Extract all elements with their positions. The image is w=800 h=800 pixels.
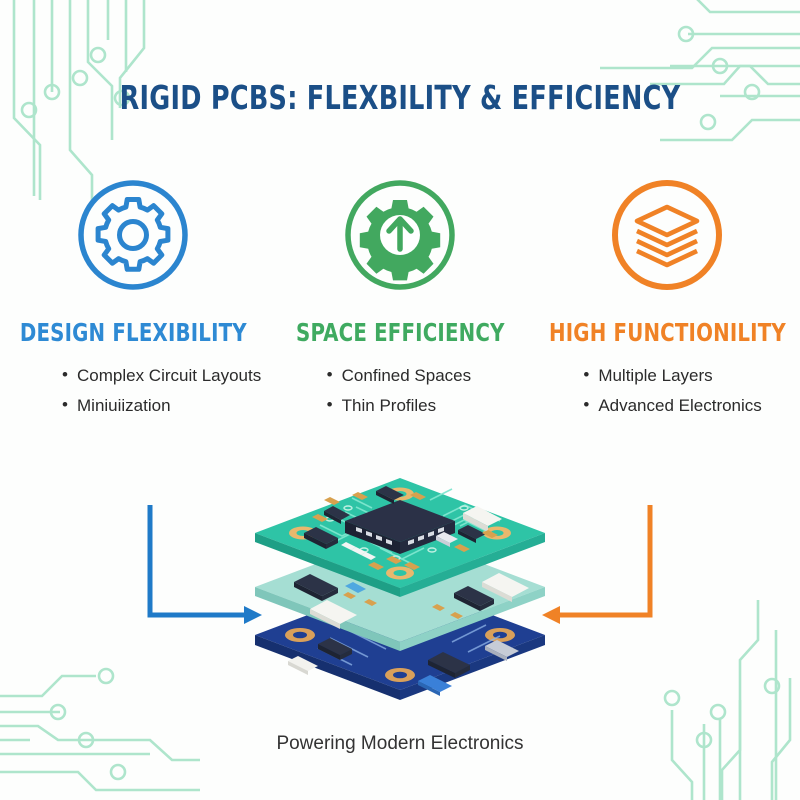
feature-bullet-list: Multiple Layers Advanced Electronics [533,361,800,422]
list-item: Multiple Layers [581,361,800,391]
illustration-caption: Powering Modern Electronics [0,733,800,755]
list-item: Thin Profiles [325,391,534,421]
feature-bullet-list: Confined Spaces Thin Profiles [267,361,534,422]
feature-column-space-efficiency: SPACE EFFICIENCY Confined Spaces Thin Pr… [267,170,534,422]
infographic-page: RIGID PCBS: FLEXBILITY & EFFICIENCY DESI… [0,0,800,800]
column-heading: HIGH FUNCTIONILITY [549,318,784,347]
page-title: RIGID PCBS: FLEXBILITY & EFFICIENCY [56,78,744,117]
list-item: Miniuiization [60,391,267,421]
feature-bullet-list: Complex Circuit Layouts Miniuiization [0,361,267,422]
orange-elbow-arrow-left [542,505,650,624]
layers-stack-icon [602,170,732,300]
stacked-pcb-illustration [0,470,800,720]
blue-elbow-arrow-right [150,505,262,624]
column-heading: DESIGN FLEXIBILITY [16,318,251,347]
list-item: Confined Spaces [325,361,534,391]
list-item: Advanced Electronics [581,391,800,421]
feature-columns: DESIGN FLEXIBILITY Complex Circuit Layou… [0,170,800,422]
list-item: Complex Circuit Layouts [60,361,267,391]
gear-up-arrow-icon [335,170,465,300]
feature-column-high-functionility: HIGH FUNCTIONILITY Multiple Layers Advan… [533,170,800,422]
column-heading: SPACE EFFICIENCY [283,318,518,347]
feature-column-design-flexibility: DESIGN FLEXIBILITY Complex Circuit Layou… [0,170,267,422]
gear-icon [68,170,198,300]
